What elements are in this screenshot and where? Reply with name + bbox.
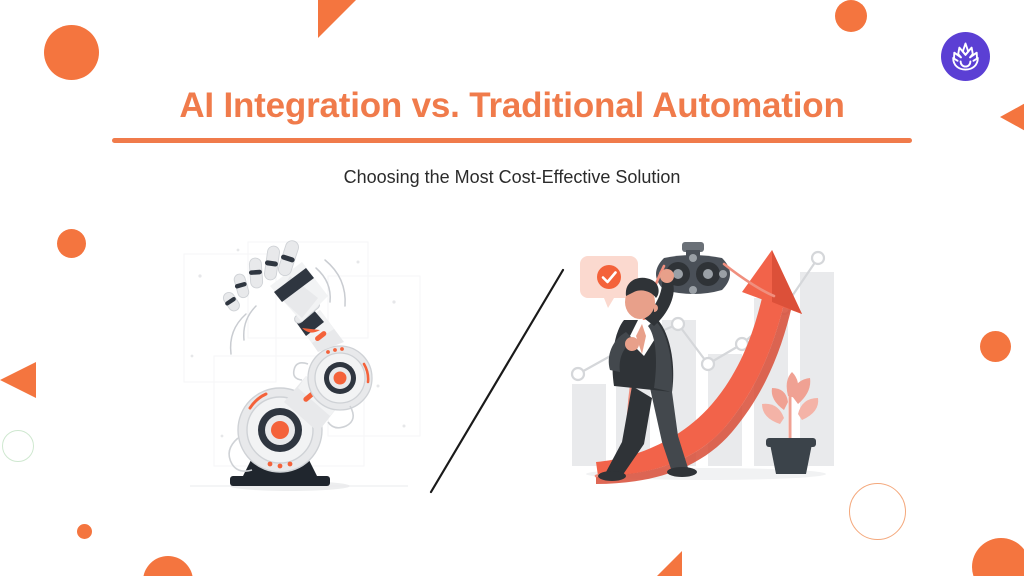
illustration-stage: Industrial robotic arm with articulated … <box>0 236 1024 516</box>
deco-circle-bottom-right <box>972 538 1024 576</box>
robotic-arm-illustration: Industrial robotic arm with articulated … <box>178 236 426 508</box>
diagonal-divider-line <box>410 236 580 516</box>
diagonal-divider <box>410 236 580 516</box>
page-subtitle: Choosing the Most Cost-Effective Solutio… <box>0 164 1024 190</box>
growth-arrow-graphic <box>566 236 846 502</box>
lotus-logo-icon <box>941 32 990 81</box>
deco-circle-top-left <box>44 25 99 80</box>
growth-arrow-illustration: Businessman pulling a rope over a pulley… <box>566 236 846 502</box>
deco-triangle-bottom <box>650 551 682 576</box>
deco-circle-bottom-left <box>143 556 193 576</box>
header: AI Integration vs. Traditional Automatio… <box>0 84 1024 128</box>
robotic-arm-graphic <box>178 236 426 508</box>
title-underline <box>112 138 912 143</box>
deco-dot-bottom-left <box>77 524 92 539</box>
check-icon <box>597 265 621 289</box>
slide-canvas: AI Integration vs. Traditional Automatio… <box>0 0 1024 576</box>
deco-triangle-top-center <box>318 0 356 38</box>
lotus-logo <box>941 32 990 81</box>
page-title: AI Integration vs. Traditional Automatio… <box>0 84 1024 128</box>
deco-circle-top-right <box>835 0 867 32</box>
